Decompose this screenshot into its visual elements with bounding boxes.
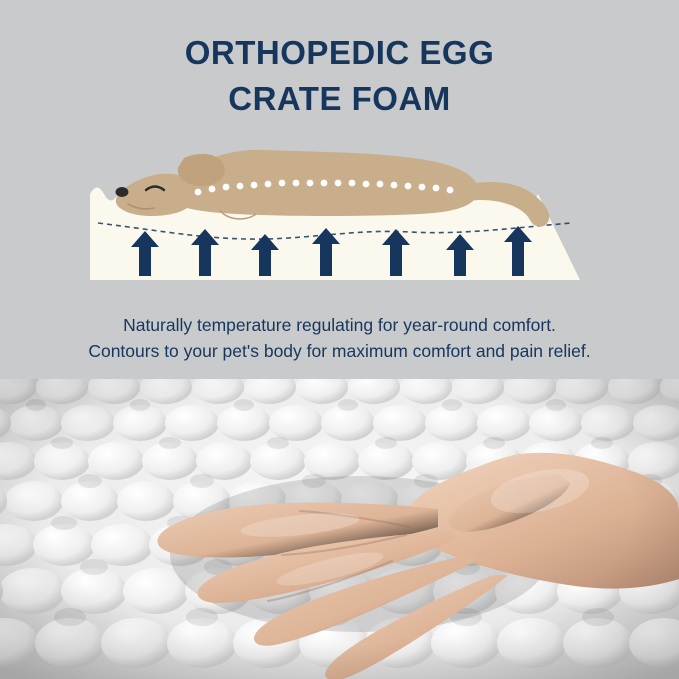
dog-nose (116, 187, 129, 197)
headline-line-1: ORTHOPEDIC EGG (0, 30, 679, 76)
caption-line-2: Contours to your pet's body for maximum … (0, 338, 679, 364)
page-title: ORTHOPEDIC EGG CRATE FOAM (0, 30, 679, 122)
headline-line-2: CRATE FOAM (0, 76, 679, 122)
illustration (60, 128, 620, 308)
caption-block: Naturally temperature regulating for yea… (0, 312, 679, 364)
caption-line-1: Naturally temperature regulating for yea… (0, 312, 679, 338)
product-infographic: ORTHOPEDIC EGG CRATE FOAM (0, 0, 679, 679)
top-info-panel: ORTHOPEDIC EGG CRATE FOAM (0, 0, 679, 379)
hand-pressing-egg-crate-foam (0, 379, 679, 679)
